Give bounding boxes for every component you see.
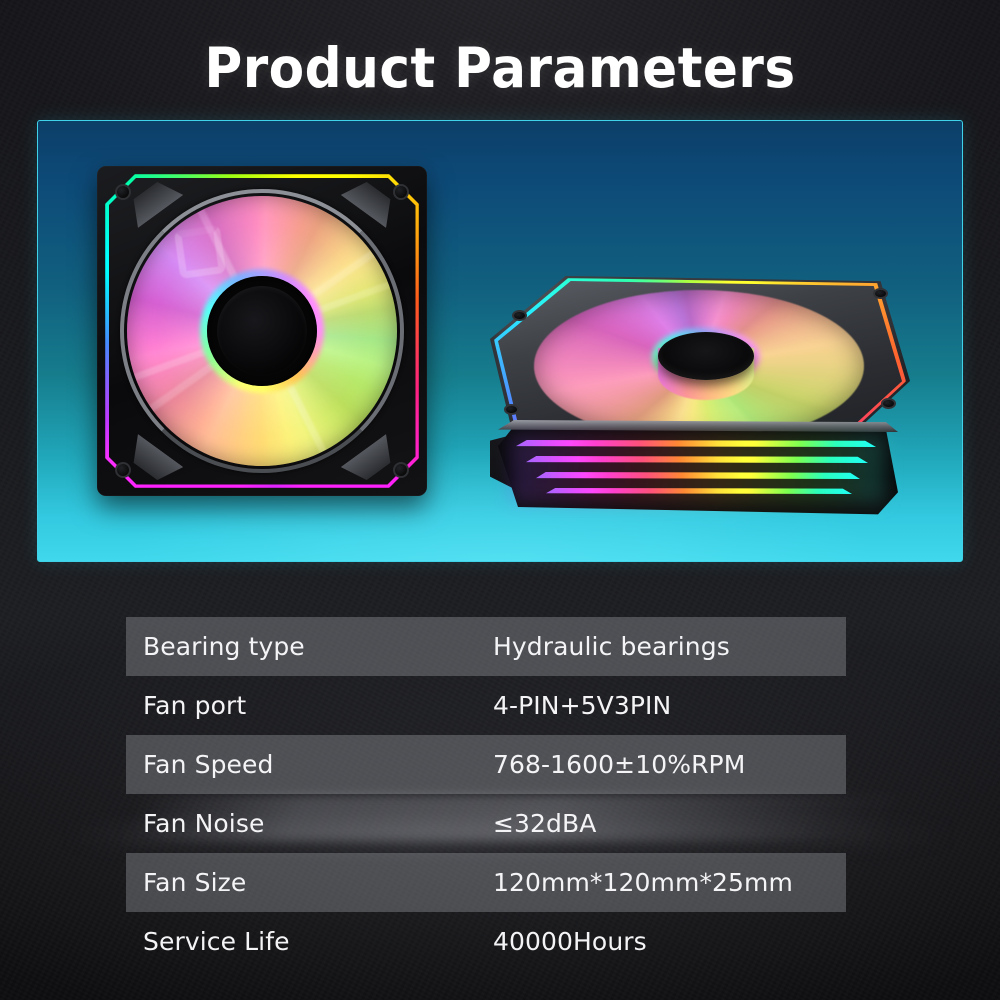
product-image-panel [37,120,963,562]
screw-hole-icon [512,310,527,321]
rgb-case-fan-front-view [97,166,427,496]
spec-value: 4-PIN+5V3PIN [493,691,671,720]
spec-table: Bearing type Hydraulic bearings Fan port… [126,617,846,971]
fan-blade-logo [174,225,226,279]
rgb-light-bar [516,440,876,447]
spec-value: ≤32dBA [493,809,596,838]
screw-hole-icon [504,404,519,415]
table-row: Fan Size 120mm*120mm*25mm [126,853,846,912]
table-row: Bearing type Hydraulic bearings [126,617,846,676]
spec-value: 40000Hours [493,927,647,956]
fan-hub-core [217,286,307,376]
spec-label: Service Life [126,927,493,956]
screw-hole-icon [393,462,409,478]
spec-value: Hydraulic bearings [493,632,730,661]
screw-hole-icon [881,398,896,409]
table-row: Service Life 40000Hours [126,912,846,971]
spec-label: Fan port [126,691,493,720]
spec-label: Fan Speed [126,750,493,779]
spec-value: 120mm*120mm*25mm [493,868,793,897]
screw-hole-icon [115,184,131,200]
rgb-light-bar [526,456,868,463]
screw-hole-icon [873,288,888,299]
fan-hub-core [658,332,754,380]
table-row: Fan Noise ≤32dBA [126,794,846,853]
spec-label: Bearing type [126,632,493,661]
page-title: Product Parameters [30,36,970,100]
screw-hole-icon [115,462,131,478]
screw-hole-icon [393,184,409,200]
rgb-case-fan-angled-view [490,276,910,521]
spec-label: Fan Noise [126,809,493,838]
rgb-light-bar [546,488,852,494]
table-row: Fan Speed 768-1600±10%RPM [126,735,846,794]
spec-value: 768-1600±10%RPM [493,750,745,779]
table-row: Fan port 4-PIN+5V3PIN [126,676,846,735]
rgb-light-bar [536,472,860,479]
spec-label: Fan Size [126,868,493,897]
